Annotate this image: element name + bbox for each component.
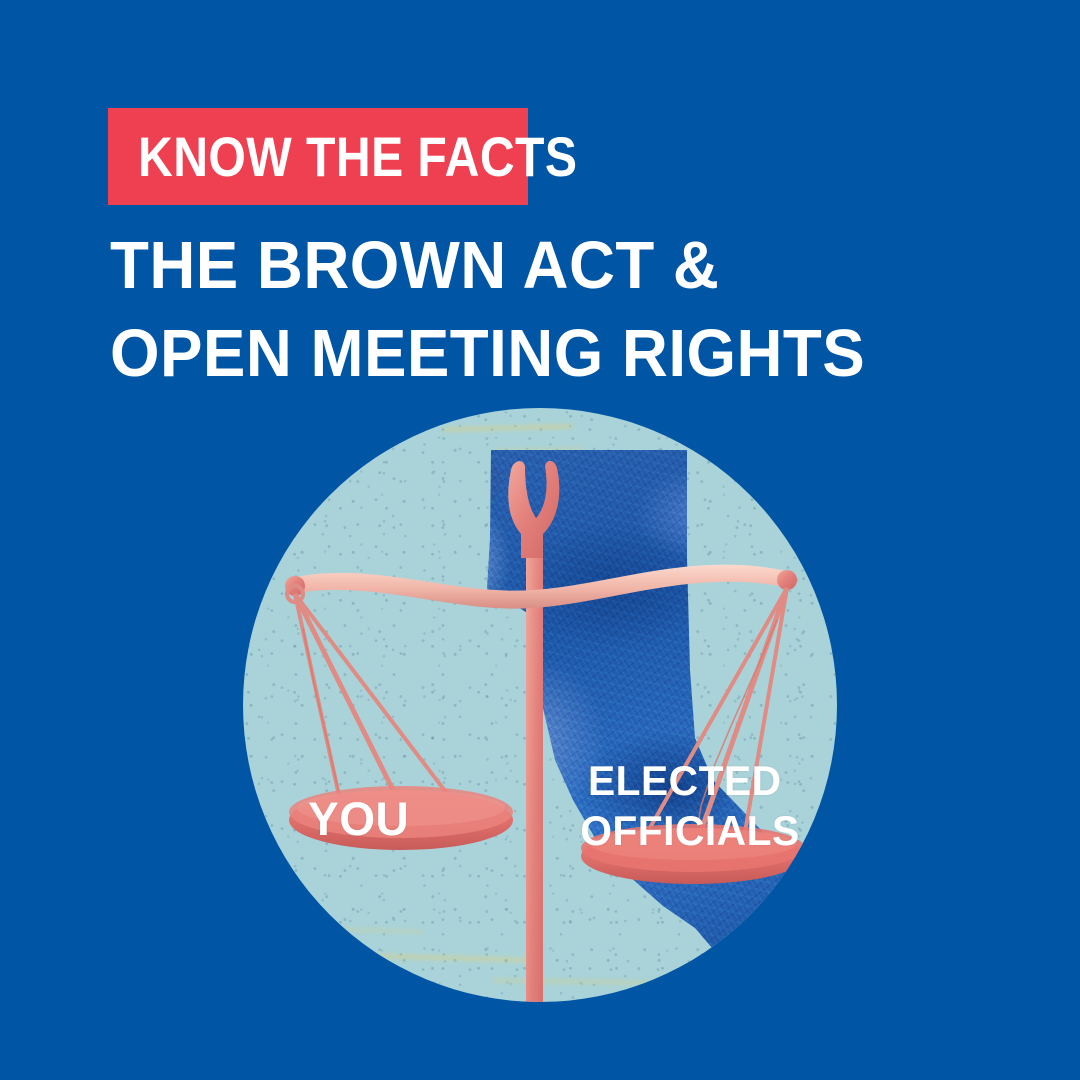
scale-fulcrum bbox=[508, 461, 559, 558]
left-pan-label: YOU bbox=[308, 795, 409, 842]
poster-canvas: KNOW THE FACTS THE BROWN ACT & OPEN MEET… bbox=[0, 0, 1080, 1080]
right-pan-label: ELECTED OFFICIALS bbox=[588, 760, 800, 852]
illustration-circle bbox=[243, 408, 837, 1002]
right-pan-label-line-2: OFFICIALS bbox=[580, 810, 799, 852]
balance-scale-icon bbox=[243, 408, 837, 1002]
headline-line-2: OPEN MEETING RIGHTS bbox=[110, 310, 946, 398]
eyebrow-banner: KNOW THE FACTS bbox=[108, 108, 528, 205]
headline-line-1: THE BROWN ACT & bbox=[110, 222, 946, 310]
beam-end-right bbox=[777, 570, 797, 590]
page-title: THE BROWN ACT & OPEN MEETING RIGHTS bbox=[110, 222, 990, 398]
right-pan-label-line-1: ELECTED bbox=[588, 757, 782, 804]
eyebrow-label: KNOW THE FACTS bbox=[138, 129, 577, 185]
